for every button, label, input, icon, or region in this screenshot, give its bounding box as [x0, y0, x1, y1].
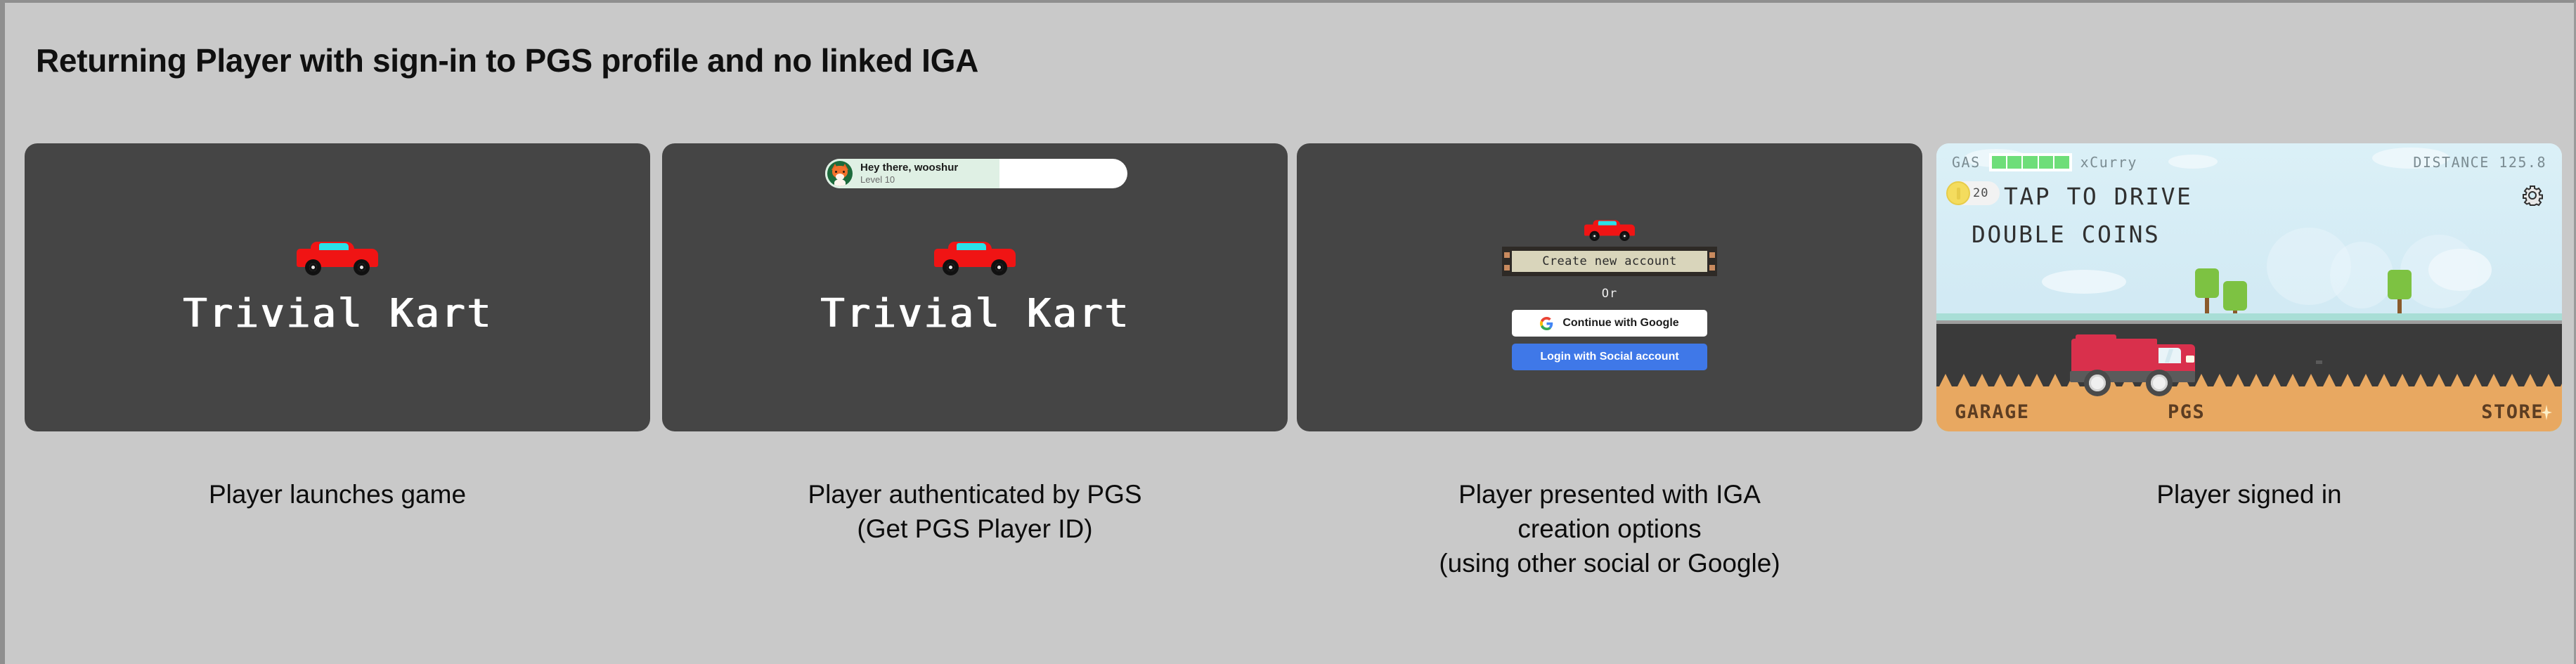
car-wheel-rear: [991, 259, 1007, 275]
tree-crown: [2388, 270, 2412, 299]
tree-crown: [2223, 281, 2247, 311]
double-coins-text: DOUBLE COINS: [1972, 221, 2160, 248]
nav-garage[interactable]: GARAGE: [1955, 401, 2030, 423]
road-shoulder: [1936, 313, 2562, 320]
caption-line: Player authenticated by PGS: [662, 477, 1288, 512]
road-dash: [2316, 360, 2322, 364]
car-windshield: [1598, 221, 1617, 225]
toast-greeting: Hey there, wooshur: [860, 162, 958, 175]
create-new-account-label: Create new account: [1542, 254, 1676, 268]
continue-with-google-label: Continue with Google: [1562, 317, 1678, 330]
truck-wheel-front: [2146, 370, 2173, 396]
panel-player-signed-in[interactable]: GAS xCurry DISTANCE 125.8 20 TAP TO: [1936, 143, 2562, 431]
fox-eye-right: [843, 171, 845, 173]
caption-line: Player presented with IGA: [1297, 477, 1922, 512]
game-logo-text: Trivial Kart: [183, 291, 493, 337]
coin-badge: 20: [1949, 181, 2000, 205]
player-truck: [2070, 334, 2198, 395]
button-cap-right: [1707, 247, 1717, 276]
car-wheel-rear: [354, 259, 370, 275]
page-title: Returning Player with sign-in to PGS pro…: [36, 41, 978, 79]
caption-line: (Get PGS Player ID): [662, 512, 1288, 546]
car-icon-wrap: [933, 239, 1017, 275]
fox-eye-left: [835, 171, 837, 173]
caption-line: (using other social or Google): [1297, 546, 1922, 580]
cloud-icon: [2042, 270, 2126, 294]
button-cap-left: [1502, 247, 1512, 276]
gas-segment: [1992, 156, 2006, 169]
gas-label: GAS: [1952, 154, 1981, 171]
distance-label: DISTANCE 125.8: [2413, 154, 2546, 171]
toast-level: Level 10: [860, 174, 958, 185]
truck-headlight: [2186, 356, 2194, 363]
login-with-social-account-button[interactable]: Login with Social account: [1512, 344, 1707, 370]
caption-player-authenticated: Player authenticated by PGS (Get PGS Pla…: [662, 477, 1288, 546]
pixel-car-icon: [933, 239, 1017, 275]
coin-count: 20: [1973, 186, 1988, 200]
gas-meter: [1989, 153, 2072, 171]
nav-pgs[interactable]: PGS: [2168, 401, 2205, 423]
tree-icon: [2195, 268, 2219, 316]
game-bottom-nav: GARAGE PGS STORE: [1936, 398, 2562, 426]
truck-wheel-rear: [2084, 370, 2111, 396]
car-wheel-front: [943, 259, 959, 275]
truck-cargo-box: [2071, 339, 2157, 375]
caption-line: Player launches game: [25, 477, 650, 512]
skyline-building: [2400, 235, 2478, 308]
game-splash-screen: Trivial Kart: [25, 143, 650, 431]
pgs-signin-toast[interactable]: Hey there, wooshur Level 10: [825, 159, 1127, 188]
toast-text-block: Hey there, wooshur Level 10: [860, 162, 958, 186]
coin-icon: [1946, 181, 1970, 205]
panel-player-authenticated[interactable]: Trivial Kart Hey there, wooshur Level 10: [662, 143, 1288, 431]
login-with-social-account-label: Login with Social account: [1540, 351, 1678, 363]
panel-player-launches-game[interactable]: Trivial Kart: [25, 143, 650, 431]
caption-player-signed-in: Player signed in: [1936, 477, 2562, 512]
caption-line: creation options: [1297, 512, 1922, 546]
tree-crown: [2195, 268, 2219, 298]
caption-line: Player signed in: [1936, 477, 2562, 512]
panel-row: Trivial Kart Trivial Kart: [5, 143, 2576, 445]
car-wheel-front: [1589, 231, 1599, 241]
google-g-icon: [1540, 317, 1553, 330]
slide-frame: Returning Player with sign-in to PGS pro…: [0, 0, 2576, 664]
gas-segment: [2007, 156, 2021, 169]
gear-icon[interactable]: [2521, 184, 2544, 207]
game-hud-top: GAS xCurry DISTANCE 125.8: [1952, 153, 2546, 171]
car-wheel-front: [305, 259, 321, 275]
continue-with-google-button[interactable]: Continue with Google: [1512, 310, 1707, 337]
car-windshield: [957, 243, 986, 250]
caption-iga-creation-options: Player presented with IGA creation optio…: [1297, 477, 1922, 581]
iga-options-screen: Create new account Or Continue with Goog…: [1297, 143, 1922, 431]
tree-icon: [2388, 270, 2412, 318]
car-icon-wrap: [1584, 219, 1636, 241]
car-windshield: [319, 243, 349, 250]
fox-avatar-icon: [827, 161, 853, 186]
dirt-zigzag-edge: [1936, 374, 2562, 392]
panel-iga-creation-options[interactable]: Create new account Or Continue with Goog…: [1297, 143, 1922, 431]
gas-segment: [2054, 156, 2069, 169]
fox-chest: [834, 179, 846, 186]
nav-store[interactable]: STORE: [2481, 401, 2544, 423]
pixel-car-icon: [1584, 219, 1636, 241]
car-wheel-rear: [1619, 231, 1629, 241]
truck-windshield: [2158, 348, 2181, 363]
game-scene: GAS xCurry DISTANCE 125.8 20 TAP TO: [1936, 143, 2562, 431]
car-icon-wrap: [295, 239, 380, 275]
caption-player-launches-game: Player launches game: [25, 477, 650, 512]
currency-label: xCurry: [2080, 154, 2137, 171]
gas-segment: [2039, 156, 2053, 169]
skyline-building: [2330, 242, 2393, 308]
gas-segment: [2023, 156, 2037, 169]
pixel-car-icon: [295, 239, 380, 275]
create-new-account-button[interactable]: Create new account: [1512, 247, 1707, 276]
or-divider-label: Or: [1602, 287, 1617, 301]
game-logo-text: Trivial Kart: [820, 291, 1130, 337]
tap-to-drive-text[interactable]: TAP TO DRIVE: [2004, 183, 2192, 210]
